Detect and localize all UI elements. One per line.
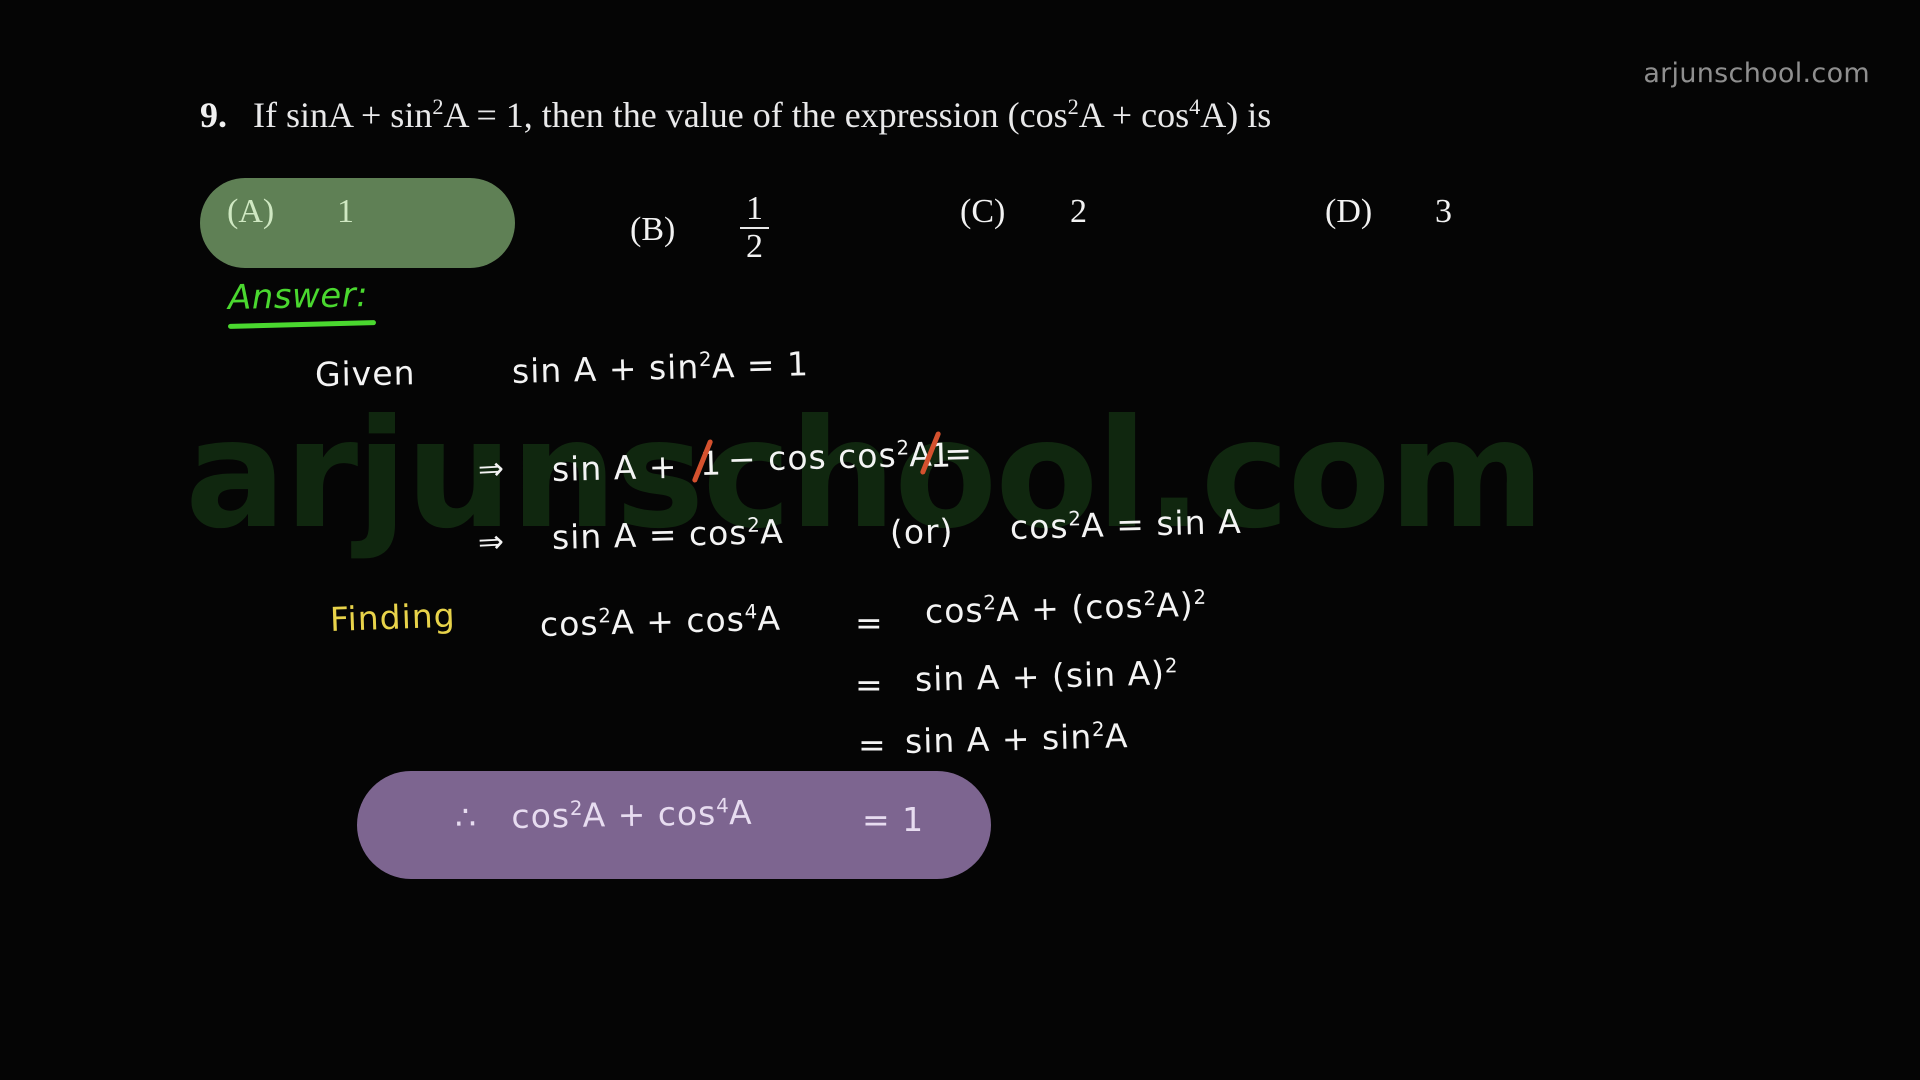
conclusion-c: A	[729, 793, 753, 832]
step3-right-expression: cos2A + (cos2A)2	[924, 585, 1206, 631]
question-text-part-4: A) is	[1200, 95, 1271, 135]
step5-exponent: 2	[1092, 718, 1105, 741]
option-b-denominator: 2	[740, 227, 769, 265]
question-number: 9.	[200, 94, 227, 136]
step3-rhs-b: A + (cos	[996, 586, 1145, 629]
question-text-part-3: A + cos	[1079, 95, 1189, 135]
option-d-label: (D)	[1325, 193, 1399, 231]
step2-or-connector: (or)	[889, 511, 954, 552]
step3-rhs-exponent-b: 2	[1143, 587, 1156, 610]
given-equation: sin A + sin2A = 1	[511, 344, 809, 391]
finding-label: Finding	[329, 596, 456, 639]
given-equation-part-a: sin A + sin	[511, 347, 699, 391]
lesson-slide: arjunschool.com arjunschool.com 9. If si…	[0, 0, 1920, 1080]
therefore-icon: ∴	[455, 798, 478, 837]
given-label: Given	[315, 353, 416, 394]
step3-rhs-c: A)	[1156, 585, 1194, 625]
step3-lhs-c: A	[757, 599, 782, 639]
step2-right-a: cos	[1009, 506, 1069, 547]
step3-rhs-exponent-a: 2	[983, 591, 996, 614]
step3-rhs-exponent-c: 2	[1193, 586, 1206, 609]
step2-left-a: sin A = cos	[551, 513, 747, 557]
step4-expression: sin A + (sin A)2	[914, 653, 1178, 699]
step5-text-a: sin A + sin	[904, 717, 1092, 761]
option-b-numerator: 1	[740, 191, 769, 227]
question-text-part-1: If sinA + sin	[253, 95, 432, 135]
question-exponent-3: 4	[1189, 94, 1200, 119]
option-c-value: 2	[1070, 193, 1087, 231]
option-d[interactable]: (D) 3	[1325, 193, 1452, 231]
given-equation-exponent: 2	[699, 348, 712, 371]
step2-left-exponent: 2	[747, 514, 760, 537]
question-exponent-2: 2	[1068, 94, 1079, 119]
option-a-label: (A)	[227, 193, 301, 231]
option-a-value: 1	[337, 193, 354, 231]
watermark-background: arjunschool.com	[185, 400, 1745, 550]
conclusion-exponent-a: 2	[570, 797, 583, 820]
step2-right: cos2A = sin A	[1009, 502, 1242, 547]
question-text: If sinA + sin2A = 1, then the value of t…	[253, 94, 1271, 136]
step1-part-a: sin A +	[551, 447, 677, 489]
step1-arrow-icon: ⇒	[477, 451, 506, 488]
option-c-label: (C)	[960, 193, 1034, 231]
watermark-corner-logo: arjunschool.com	[1643, 58, 1870, 89]
step2-right-exponent: 2	[1068, 507, 1081, 530]
option-c[interactable]: (C) 2	[960, 193, 1087, 231]
question-exponent-1: 2	[432, 94, 443, 119]
answer-heading: Answer:	[228, 275, 369, 318]
option-b-label: (B)	[630, 211, 704, 249]
conclusion-a: cos	[511, 796, 570, 836]
step2-left: sin A = cos2A	[551, 512, 784, 557]
step3-left-expression: cos2A + cos4A	[539, 599, 781, 644]
answer-heading-underline	[228, 320, 376, 329]
question-line: 9. If sinA + sin2A = 1, then the value o…	[200, 94, 1271, 136]
step5-text-b: A	[1104, 716, 1129, 756]
conclusion-exponent-b: 4	[716, 794, 729, 817]
given-equation-part-b: A = 1	[711, 344, 809, 386]
step4-equals: =	[855, 665, 884, 704]
conclusion-expression: ∴ cos2A + cos4A	[455, 793, 753, 837]
step3-lhs-b: A + cos	[611, 600, 746, 642]
step3-lhs-a: cos	[539, 603, 599, 644]
step1-cos: cos	[826, 436, 897, 477]
step3-rhs-a: cos	[924, 590, 984, 631]
step1-exponent: 2	[896, 436, 909, 459]
step4-exponent: 2	[1164, 654, 1177, 677]
step2-left-b: A	[760, 512, 785, 552]
question-text-part-2: A = 1, then the value of the expression …	[443, 95, 1067, 135]
step3-lhs-exponent-b: 4	[744, 600, 757, 623]
conclusion-result: = 1	[862, 800, 924, 839]
option-a[interactable]: (A) 1	[227, 193, 354, 231]
option-b[interactable]: (B) 1 2	[630, 193, 769, 266]
step2-right-b: A = sin A	[1081, 502, 1243, 545]
option-d-value: 3	[1435, 193, 1452, 231]
step5-expression: sin A + sin2A	[904, 716, 1128, 761]
step3-equals: =	[855, 603, 884, 642]
step4-text: sin A + (sin A)	[914, 653, 1165, 699]
option-b-fraction: 1 2	[740, 191, 769, 264]
step2-arrow-icon: ⇒	[477, 524, 506, 561]
conclusion-spacer	[477, 797, 512, 837]
step3-lhs-exponent-a: 2	[598, 604, 611, 627]
step5-equals: =	[858, 725, 887, 764]
step1-part-b-text: − cos	[727, 437, 827, 479]
conclusion-b: A + cos	[582, 793, 716, 834]
